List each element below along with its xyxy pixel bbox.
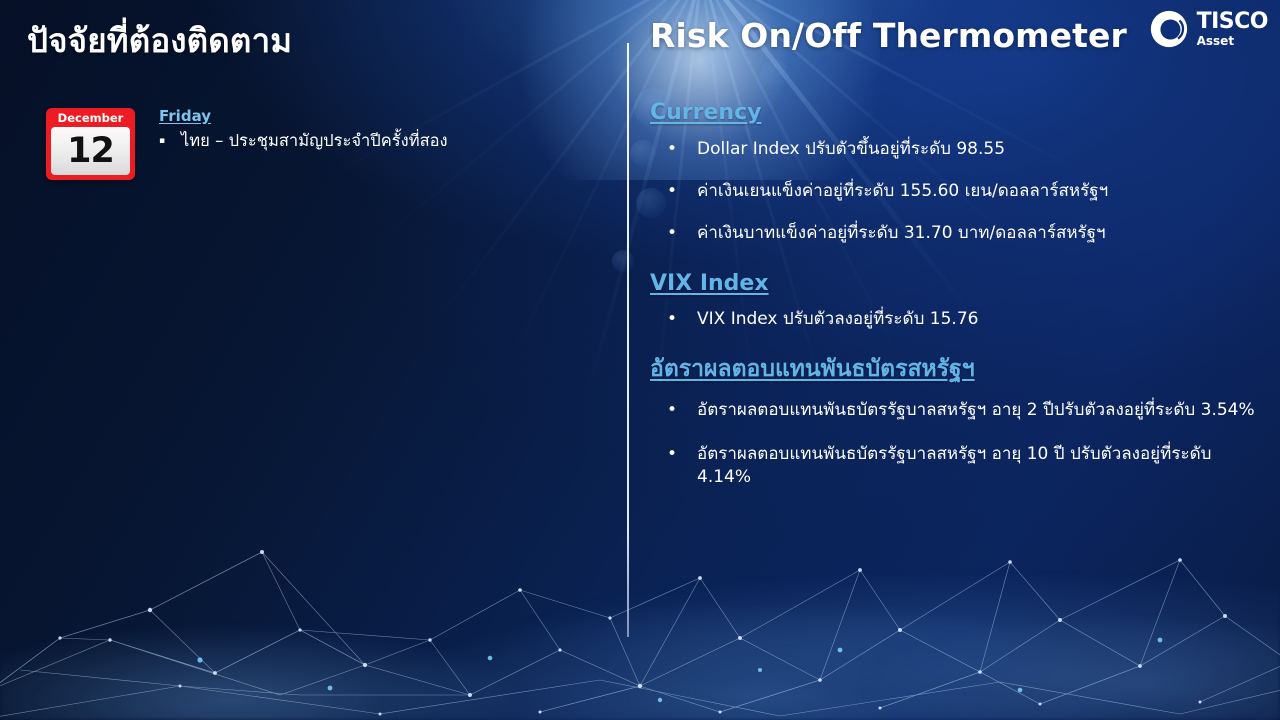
calendar-icon: December 12	[46, 108, 135, 180]
bullet-text: ค่าเงินเยนแข็งค่าอยู่ที่ระดับ 155.60 เยน…	[697, 181, 1108, 201]
bullet-text: อัตราผลตอบแทนพันธบัตรรัฐบาลสหรัฐฯ อายุ 1…	[697, 444, 1211, 487]
bullet-text: VIX Index ปรับตัวลงอยู่ที่ระดับ 15.76	[697, 309, 978, 329]
right-panel-sections: Currency •Dollar Index ปรับตัวขึ้นอยู่ที…	[650, 100, 1262, 489]
round-bullet-icon: •	[667, 399, 677, 422]
page-title-right: Risk On/Off Thermometer	[650, 16, 1127, 55]
calendar-month: December	[48, 110, 133, 127]
bullet-item: • VIX Index ปรับตัวลงอยู่ที่ระดับ 15.76	[650, 308, 1262, 331]
bokeh-circle	[612, 250, 634, 272]
square-bullet-icon: ▪	[159, 130, 181, 152]
section-3: อัตราผลตอบแทนพันธบัตรสหรัฐฯ•อัตราผลตอบแท…	[650, 351, 1262, 489]
round-bullet-icon: •	[667, 180, 677, 203]
tisco-ring-icon	[1148, 8, 1190, 50]
logo-wordmark: TISCO Asset	[1197, 11, 1268, 47]
bullet-text: อัตราผลตอบแทนพันธบัตรรัฐบาลสหรัฐฯ อายุ 2…	[697, 400, 1255, 420]
section-2: VIX Index• VIX Index ปรับตัวลงอยู่ที่ระด…	[650, 271, 1262, 331]
round-bullet-icon: •	[667, 443, 677, 466]
logo-subname: Asset	[1197, 35, 1268, 47]
slide-root: ปัจจัยที่ต้องติดตาม Risk On/Off Thermome…	[0, 0, 1280, 720]
page-title-left: ปัจจัยที่ต้องติดตาม	[27, 14, 292, 67]
section-bullet-list: •อัตราผลตอบแทนพันธบัตรรัฐบาลสหรัฐฯ อายุ …	[650, 399, 1262, 489]
section-heading: Currency	[650, 100, 1262, 125]
left-event-text: ไทย – ประชุมสามัญประจำปีครั้งที่สอง	[181, 130, 448, 152]
tisco-asset-logo: TISCO Asset	[1148, 8, 1268, 50]
logo-name: TISCO	[1197, 11, 1268, 33]
left-panel-events: Friday ▪ไทย – ประชุมสามัญประจำปีครั้งที่…	[159, 107, 599, 152]
round-bullet-icon: •	[667, 308, 677, 331]
bullet-item: •ค่าเงินบาทแข็งค่าอยู่ที่ระดับ 31.70 บาท…	[650, 222, 1262, 245]
panel-divider	[627, 43, 629, 637]
day-label: Friday	[159, 107, 599, 125]
bokeh-circle	[760, 60, 790, 90]
bullet-item: •Dollar Index ปรับตัวขึ้นอยู่ที่ระดับ 98…	[650, 138, 1262, 161]
round-bullet-icon: •	[667, 222, 677, 245]
network-lines-svg	[0, 490, 1280, 720]
bullet-item: •อัตราผลตอบแทนพันธบัตรรัฐบาลสหรัฐฯ อายุ …	[650, 443, 1262, 489]
network-plexus-decoration	[0, 490, 1280, 720]
bullet-item: •อัตราผลตอบแทนพันธบัตรรัฐบาลสหรัฐฯ อายุ …	[650, 399, 1262, 422]
section-bullet-list: •Dollar Index ปรับตัวขึ้นอยู่ที่ระดับ 98…	[650, 138, 1262, 245]
calendar-day: 12	[67, 134, 114, 169]
bullet-item: •ค่าเงินเยนแข็งค่าอยู่ที่ระดับ 155.60 เย…	[650, 180, 1262, 203]
section-heading: อัตราผลตอบแทนพันธบัตรสหรัฐฯ	[650, 351, 1262, 387]
bullet-text: Dollar Index ปรับตัวขึ้นอยู่ที่ระดับ 98.…	[697, 139, 1005, 159]
bullet-text: ค่าเงินบาทแข็งค่าอยู่ที่ระดับ 31.70 บาท/…	[697, 223, 1106, 243]
calendar-day-box: 12	[51, 127, 130, 175]
section-heading: VIX Index	[650, 271, 1262, 296]
left-event-item: ▪ไทย – ประชุมสามัญประจำปีครั้งที่สอง	[159, 130, 599, 152]
left-event-list: ▪ไทย – ประชุมสามัญประจำปีครั้งที่สอง	[159, 130, 599, 152]
section-1: Currency •Dollar Index ปรับตัวขึ้นอยู่ที…	[650, 100, 1262, 245]
section-bullet-list: • VIX Index ปรับตัวลงอยู่ที่ระดับ 15.76	[650, 308, 1262, 331]
round-bullet-icon: •	[667, 138, 677, 161]
